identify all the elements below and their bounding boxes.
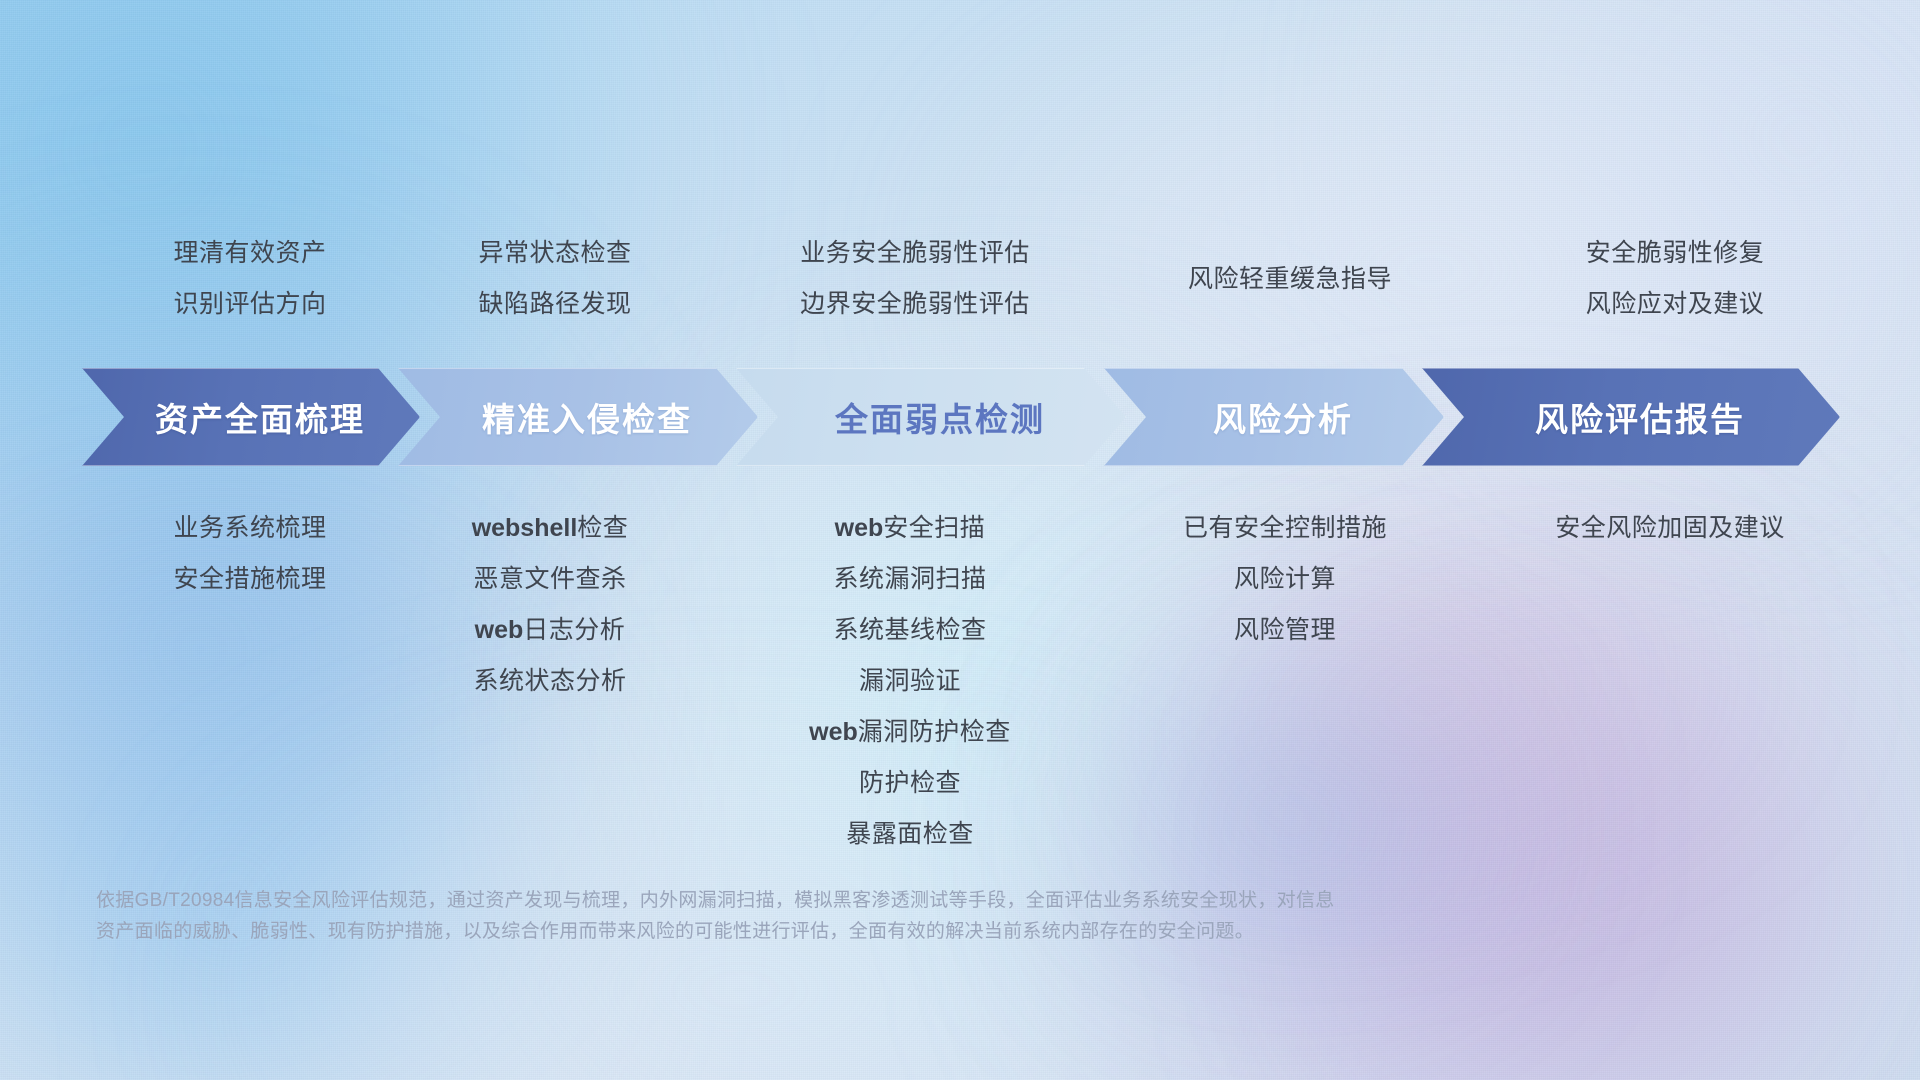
chevron-stage-5[interactable]: 风险评估报告 <box>1422 368 1840 466</box>
stage-5-top-item-1: 安全脆弱性修复 <box>1460 228 1890 279</box>
stage-4-top-item-1: 风险轻重缓急指导 <box>1075 254 1505 305</box>
stage-3-bottom-item-7: 暴露面检查 <box>700 809 1120 860</box>
stage-2-top-items: 异常状态检查 缺陷路径发现 <box>365 228 745 330</box>
process-chevron-band: 资产全面梳理 精准入侵检查 全面弱点检测 风险分析 风险评估报告 <box>0 368 1920 466</box>
stage-3-bottom-item-1: web安全扫描 <box>700 503 1120 554</box>
stage-4-bottom-item-2: 风险计算 <box>1065 554 1505 605</box>
stage-2-top-item-2: 缺陷路径发现 <box>365 279 745 330</box>
chevron-stage-1[interactable]: 资产全面梳理 <box>82 368 420 466</box>
stage-5-bottom-items: 安全风险加固及建议 <box>1440 503 1900 554</box>
stage-3-bottom-item-2: 系统漏洞扫描 <box>700 554 1120 605</box>
chevron-stage-5-label: 风险评估报告 <box>1517 393 1745 441</box>
stage-3-bottom-item-6: 防护检查 <box>700 758 1120 809</box>
stage-5-top-items: 安全脆弱性修复 风险应对及建议 <box>1460 228 1890 330</box>
chevron-stage-4-label: 风险分析 <box>1195 393 1353 441</box>
stage-3-bottom-item-3: 系统基线检查 <box>700 605 1120 656</box>
footer-line-2: 资产面临的威胁、脆弱性、现有防护措施，以及综合作用而带来风险的可能性进行评估，全… <box>96 916 1716 947</box>
footer-description: 依据GB/T20984信息安全风险评估规范，通过资产发现与梳理，内外网漏洞扫描，… <box>96 885 1716 947</box>
stage-4-bottom-items: 已有安全控制措施 风险计算 风险管理 <box>1065 503 1505 656</box>
chevron-stage-3[interactable]: 全面弱点检测 <box>736 368 1126 466</box>
stage-3-top-item-1: 业务安全脆弱性评估 <box>690 228 1140 279</box>
stage-4-bottom-item-3: 风险管理 <box>1065 605 1505 656</box>
chevron-stage-3-label: 全面弱点检测 <box>817 393 1045 441</box>
stage-2-bottom-item-1: webshell检查 <box>350 503 750 554</box>
stage-3-top-item-2: 边界安全脆弱性评估 <box>690 279 1140 330</box>
stage-3-bottom-items: web安全扫描 系统漏洞扫描 系统基线检查 漏洞验证 web漏洞防护检查 防护检… <box>700 503 1120 860</box>
stage-3-top-items: 业务安全脆弱性评估 边界安全脆弱性评估 <box>690 228 1140 330</box>
slide-content: 理清有效资产 识别评估方向 异常状态检查 缺陷路径发现 业务安全脆弱性评估 边界… <box>0 0 1920 1080</box>
stage-3-bottom-item-4: 漏洞验证 <box>700 656 1120 707</box>
stage-5-bottom-item-1: 安全风险加固及建议 <box>1440 503 1900 554</box>
stage-2-bottom-item-2: 恶意文件查杀 <box>350 554 750 605</box>
slide-canvas: 理清有效资产 识别评估方向 异常状态检查 缺陷路径发现 业务安全脆弱性评估 边界… <box>0 0 1920 1080</box>
stage-4-bottom-item-1: 已有安全控制措施 <box>1065 503 1505 554</box>
stage-4-top-items: 风险轻重缓急指导 <box>1075 254 1505 305</box>
stage-2-bottom-item-3: web日志分析 <box>350 605 750 656</box>
stage-3-bottom-item-5: web漏洞防护检查 <box>700 707 1120 758</box>
footer-line-1: 依据GB/T20984信息安全风险评估规范，通过资产发现与梳理，内外网漏洞扫描，… <box>96 885 1716 916</box>
chevron-stage-1-label: 资产全面梳理 <box>137 393 365 441</box>
chevron-stage-4[interactable]: 风险分析 <box>1104 368 1444 466</box>
chevron-stage-2[interactable]: 精准入侵检查 <box>398 368 758 466</box>
stage-2-bottom-items: webshell检查 恶意文件查杀 web日志分析 系统状态分析 <box>350 503 750 707</box>
stage-2-top-item-1: 异常状态检查 <box>365 228 745 279</box>
stage-5-top-item-2: 风险应对及建议 <box>1460 279 1890 330</box>
stage-2-bottom-item-4: 系统状态分析 <box>350 656 750 707</box>
chevron-stage-2-label: 精准入侵检查 <box>464 393 692 441</box>
